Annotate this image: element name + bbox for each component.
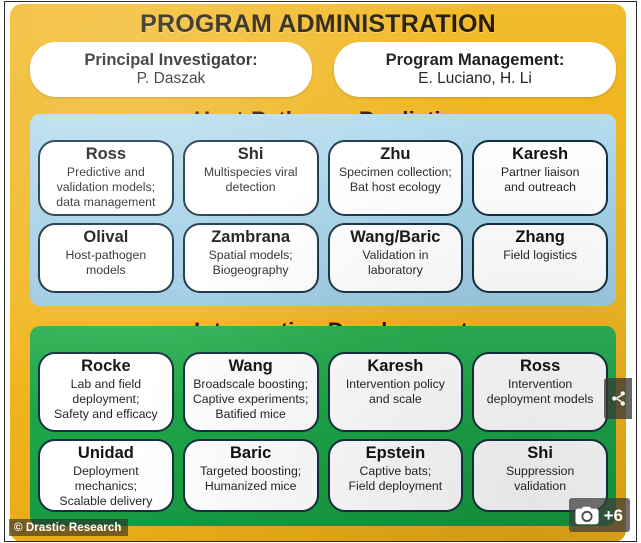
camera-icon	[575, 506, 599, 525]
member-card-epstein-ta2: Epstein Captive bats; Field deployment	[328, 439, 464, 512]
admin-role-label: Program Management:	[386, 51, 565, 69]
admin-box-program-management: Program Management: E. Luciano, H. Li	[334, 42, 616, 97]
member-card-zhang-ta1: Zhang Field logistics	[472, 223, 608, 293]
technical-area-1-row-1: Ross Predictive and validation models; d…	[38, 140, 608, 216]
panel-heading-spacer	[38, 120, 608, 140]
member-name: Wang/Baric	[350, 228, 440, 247]
admin-box-principal-investigator: Principal Investigator: P. Daszak	[30, 42, 312, 97]
photo-count-label: +6	[604, 507, 623, 524]
member-desc: Targeted boosting; Humanized mice	[200, 464, 301, 494]
member-name: Unidad	[78, 444, 134, 463]
program-administration-card: PROGRAM ADMINISTRATION Principal Investi…	[10, 4, 626, 542]
member-desc: Multispecies viral detection	[204, 165, 298, 195]
member-desc: Deployment mechanics; Scalable delivery	[59, 464, 152, 509]
member-name: Wang	[228, 357, 272, 376]
admin-people: E. Luciano, H. Li	[418, 70, 532, 88]
watermark: © Drastic Research	[9, 519, 128, 536]
member-name: Shi	[238, 145, 264, 164]
member-name: Olival	[83, 228, 128, 247]
technical-area-2-row-1: Rocke Lab and field deployment; Safety a…	[38, 352, 608, 432]
page-border: PROGRAM ADMINISTRATION Principal Investi…	[4, 1, 637, 542]
member-desc: Specimen collection; Bat host ecology	[339, 165, 452, 195]
member-name: Zambrana	[211, 228, 290, 247]
technical-area-1-row-2: Olival Host-pathogen models Zambrana Spa…	[38, 223, 608, 293]
member-name: Ross	[520, 357, 560, 376]
member-name: Ross	[86, 145, 126, 164]
member-desc: Intervention policy and scale	[346, 377, 445, 407]
share-icon	[610, 390, 627, 407]
member-name: Karesh	[512, 145, 568, 164]
member-desc: Partner liaison and outreach	[501, 165, 580, 195]
member-card-shi-ta1: Shi Multispecies viral detection	[183, 140, 319, 216]
member-desc: Lab and field deployment; Safety and eff…	[54, 377, 158, 422]
member-card-olival-ta1: Olival Host-pathogen models	[38, 223, 174, 293]
member-desc: Validation in laboratory	[362, 248, 428, 278]
page-title: PROGRAM ADMINISTRATION	[10, 10, 626, 39]
screenshot-root: PROGRAM ADMINISTRATION Principal Investi…	[0, 0, 641, 543]
member-desc: Field logistics	[503, 248, 577, 263]
member-desc: Intervention deployment models	[487, 377, 594, 407]
technical-area-2-row-2: Unidad Deployment mechanics; Scalable de…	[38, 439, 608, 512]
member-card-wang-baric-ta1: Wang/Baric Validation in laboratory	[328, 223, 464, 293]
member-name: Zhang	[515, 228, 565, 247]
member-name: Epstein	[366, 444, 426, 463]
member-card-zhu-ta1: Zhu Specimen collection; Bat host ecolog…	[328, 140, 464, 216]
panel-heading-spacer	[38, 332, 608, 352]
member-card-karesh-ta1: Karesh Partner liaison and outreach	[472, 140, 608, 216]
member-desc: Captive bats; Field deployment	[349, 464, 443, 494]
member-name: Rocke	[81, 357, 131, 376]
member-card-ross-ta1: Ross Predictive and validation models; d…	[38, 140, 174, 216]
share-button[interactable]	[604, 378, 632, 419]
member-name: Zhu	[380, 145, 410, 164]
member-card-rocke-ta2: Rocke Lab and field deployment; Safety a…	[38, 352, 174, 432]
admin-role-label: Principal Investigator:	[84, 51, 257, 69]
member-card-unidad-ta2: Unidad Deployment mechanics; Scalable de…	[38, 439, 174, 512]
technical-area-1-panel: Ross Predictive and validation models; d…	[30, 114, 616, 306]
member-desc: Host-pathogen models	[66, 248, 147, 278]
photo-count-badge[interactable]: +6	[569, 498, 630, 532]
member-card-ross-ta2: Ross Intervention deployment models	[472, 352, 608, 432]
member-card-karesh-ta2: Karesh Intervention policy and scale	[328, 352, 464, 432]
member-name: Shi	[527, 444, 553, 463]
member-card-wang-ta2: Wang Broadscale boosting; Captive experi…	[183, 352, 319, 432]
member-desc: Spatial models; Biogeography	[209, 248, 293, 278]
member-desc: Predictive and validation models; data m…	[56, 165, 155, 210]
watermark-label: © Drastic Research	[14, 522, 121, 534]
admin-people: P. Daszak	[137, 70, 206, 88]
member-card-zambrana-ta1: Zambrana Spatial models; Biogeography	[183, 223, 319, 293]
member-desc: Suppression validation	[506, 464, 574, 494]
member-card-baric-ta2: Baric Targeted boosting; Humanized mice	[183, 439, 319, 512]
technical-area-2-panel: Rocke Lab and field deployment; Safety a…	[30, 326, 616, 526]
member-desc: Broadscale boosting; Captive experiments…	[193, 377, 309, 422]
admin-row: Principal Investigator: P. Daszak Progra…	[30, 42, 616, 97]
member-name: Baric	[230, 444, 271, 463]
member-name: Karesh	[367, 357, 423, 376]
